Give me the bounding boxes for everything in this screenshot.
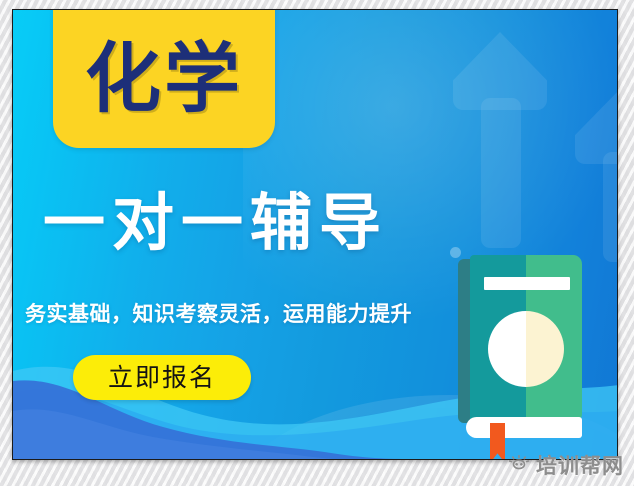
watermark-label: 培训帮网 [536, 450, 624, 480]
book-illustration [458, 255, 586, 441]
subject-badge: 化学 [53, 9, 275, 148]
book-title-bar [484, 277, 570, 290]
up-arrow-stem-secondary [603, 152, 618, 262]
up-arrow-stem [481, 98, 521, 248]
promotional-banner[interactable]: 化学 一对一辅导 务实基础，知识考察灵活，运用能力提升 立即报名 [12, 9, 618, 460]
enroll-now-button-label: 立即报名 [108, 365, 216, 390]
banner-headline: 一对一辅导 [43, 192, 388, 254]
watermark: 培训帮网 [501, 447, 632, 484]
sparkle-dot-icon [450, 247, 461, 258]
sun-face-icon [508, 454, 530, 476]
banner-subtitle: 务实基础，知识考察灵活，运用能力提升 [25, 298, 412, 328]
subject-badge-label: 化学 [85, 37, 243, 117]
enroll-now-button[interactable]: 立即报名 [73, 355, 251, 400]
book-pages [466, 417, 582, 438]
